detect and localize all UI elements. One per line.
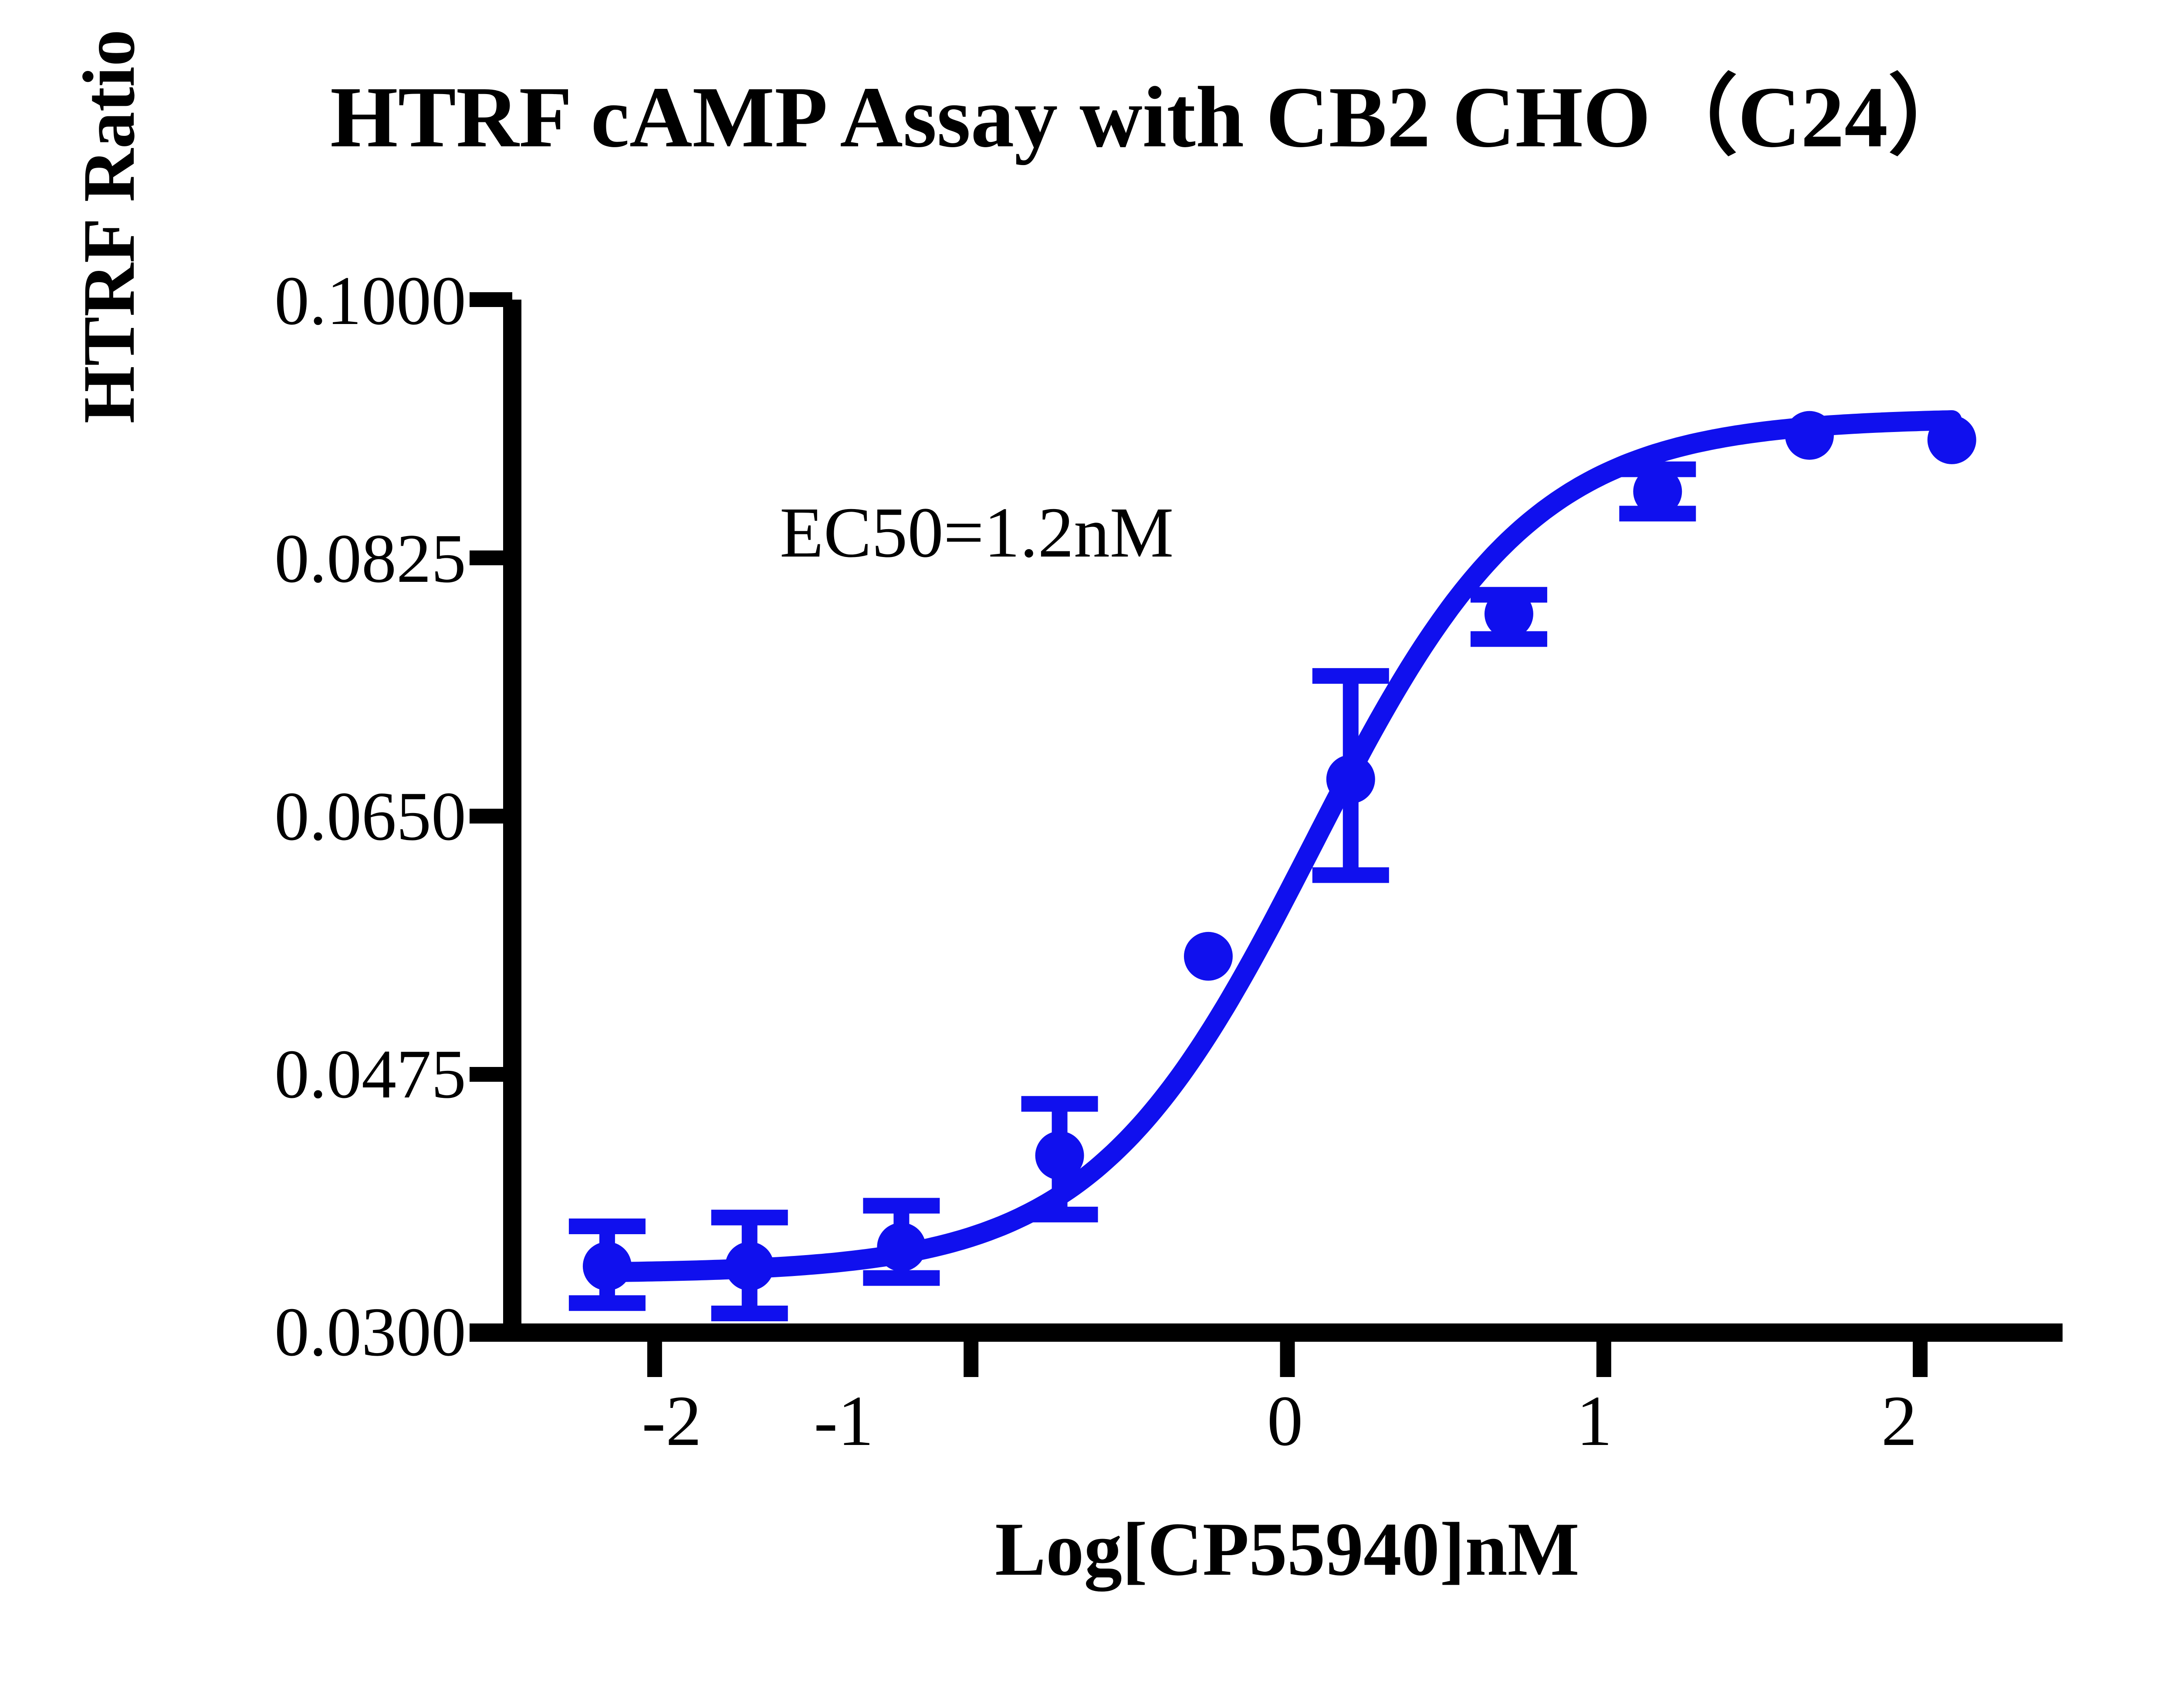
- plot-area: [0, 0, 2178, 1708]
- error-bars: [569, 469, 1696, 1313]
- data-point-marker: [1928, 415, 1976, 464]
- data-point-marker: [725, 1242, 774, 1291]
- chart-figure: HTRF cAMP Assay with CB2 CHO（C24） HTRF R…: [0, 0, 2178, 1708]
- data-point-marker: [1785, 411, 1834, 460]
- data-point-marker: [1184, 932, 1233, 981]
- fit-curve: [607, 420, 1952, 1272]
- data-point-marker: [1633, 467, 1682, 516]
- data-point-marker: [1326, 755, 1375, 803]
- data-point-marker: [583, 1242, 632, 1291]
- data-points: [583, 411, 1976, 1291]
- data-point-marker: [1485, 590, 1533, 638]
- data-point-marker: [1035, 1131, 1084, 1180]
- data-point-marker: [877, 1222, 926, 1271]
